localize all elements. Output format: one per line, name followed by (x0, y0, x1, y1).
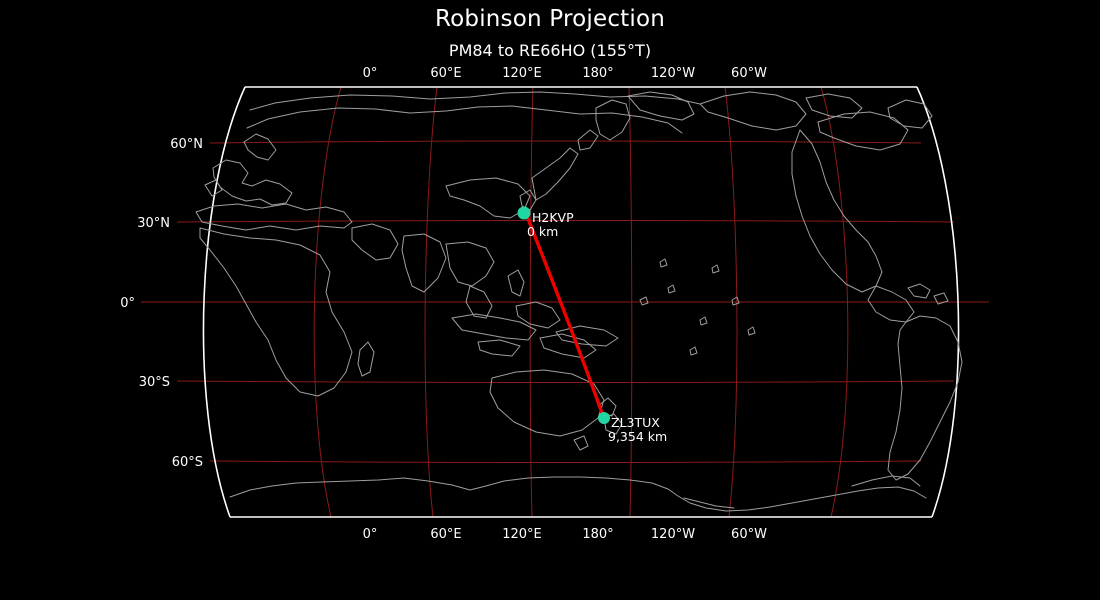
map-svg: H2KVP 0 km ZL3TUX 9,354 km 0° 60°E 120°E… (0, 0, 1100, 600)
lat-tick-30s: 30°S (139, 375, 170, 390)
station-marker-h2kvp[interactable] (518, 207, 531, 220)
lon-tick-bottom-4: 120°W (651, 527, 695, 542)
great-circle-path (527, 216, 603, 416)
station-marker-zl3tux[interactable] (598, 412, 610, 424)
lat-tick-30n: 30°N (137, 216, 170, 231)
lon-ticks-bottom: 0° 60°E 120°E 180° 120°W 60°W (363, 527, 767, 542)
lon-tick-top-1: 60°E (430, 66, 461, 81)
station-distance-h2kvp: 0 km (527, 224, 558, 239)
station-distance-zl3tux: 9,354 km (608, 429, 667, 444)
lon-tick-bottom-1: 60°E (430, 527, 461, 542)
lat-tick-60n: 60°N (170, 137, 203, 152)
lon-tick-bottom-2: 120°E (502, 527, 542, 542)
lon-tick-top-2: 120°E (502, 66, 542, 81)
lon-tick-bottom-0: 0° (363, 527, 378, 542)
station-label-h2kvp: H2KVP (532, 210, 574, 225)
lon-tick-top-4: 120°W (651, 66, 695, 81)
lon-tick-top-0: 0° (363, 66, 378, 81)
lon-tick-bottom-5: 60°W (731, 527, 767, 542)
figure-canvas: Robinson Projection PM84 to RE66HO (155°… (0, 0, 1100, 600)
lat-tick-60s: 60°S (172, 455, 203, 470)
lon-tick-top-5: 60°W (731, 66, 767, 81)
lat-ticks: 60°N 30°N 0° 30°S 60°S (120, 137, 203, 470)
graticule-parallels (141, 141, 989, 463)
station-label-zl3tux: ZL3TUX (611, 415, 660, 430)
lat-tick-0: 0° (120, 296, 135, 311)
lon-ticks-top: 0° 60°E 120°E 180° 120°W 60°W (363, 66, 767, 81)
lon-tick-bottom-3: 180° (582, 527, 613, 542)
lon-tick-top-3: 180° (582, 66, 613, 81)
